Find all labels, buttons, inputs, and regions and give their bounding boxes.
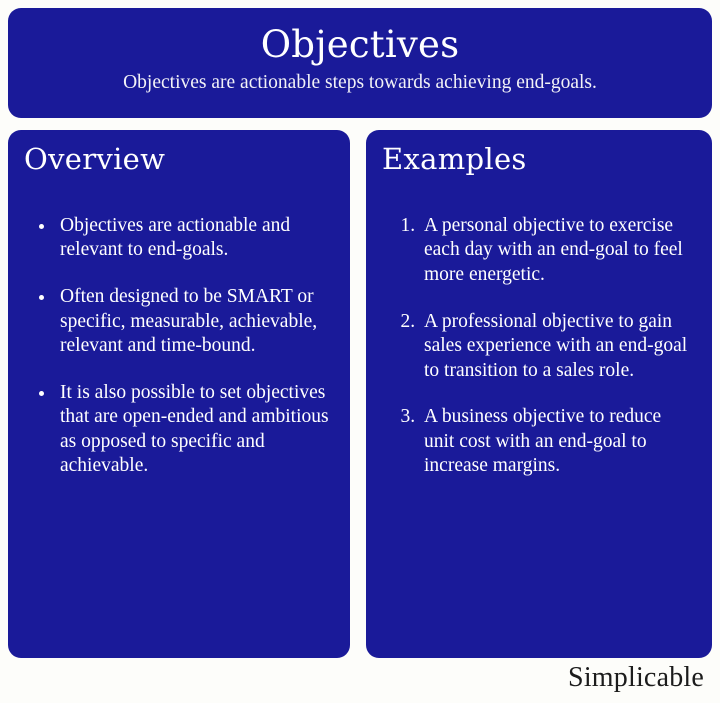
page-subtitle: Objectives are actionable steps towards …	[123, 72, 597, 94]
panel-examples: Examples A personal objective to exercis…	[366, 130, 712, 658]
panel-overview: Overview Objectives are actionable and r…	[8, 130, 350, 658]
objectives-infographic: Objectives Objectives are actionable ste…	[0, 0, 720, 703]
panel-examples-heading: Examples	[382, 144, 696, 176]
list-item: A business objective to reduce unit cost…	[420, 405, 696, 479]
list-item: A professional objective to gain sales e…	[420, 310, 696, 384]
panels-row: Overview Objectives are actionable and r…	[8, 130, 712, 658]
page-title: Objectives	[261, 26, 460, 65]
examples-list: A personal objective to exercise each da…	[382, 214, 696, 479]
overview-list: Objectives are actionable and relevant t…	[24, 214, 334, 479]
panel-overview-heading: Overview	[24, 144, 334, 176]
list-item: A personal objective to exercise each da…	[420, 214, 696, 288]
list-item: Objectives are actionable and relevant t…	[56, 214, 334, 263]
header-card: Objectives Objectives are actionable ste…	[8, 8, 712, 118]
brand-wordmark: Simplicable	[568, 664, 704, 692]
list-item: It is also possible to set objectives th…	[56, 381, 334, 479]
footer: Simplicable	[8, 658, 712, 703]
list-item: Often designed to be SMART or specific, …	[56, 285, 334, 359]
